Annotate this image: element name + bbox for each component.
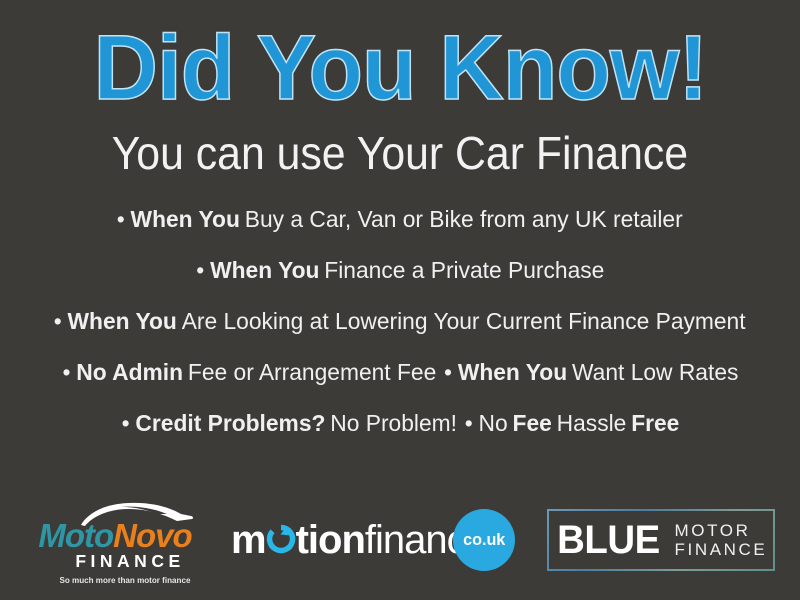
list-item-bold-tertiary: Free bbox=[631, 412, 679, 436]
list-item-bold: Credit Problems? bbox=[135, 412, 325, 436]
bullet-icon: • bbox=[62, 361, 70, 385]
logo-tagline: So much more than motor finance bbox=[59, 576, 190, 585]
bullet-icon: • bbox=[121, 412, 129, 436]
list-item-text: Fee or Arrangement Fee bbox=[187, 361, 435, 385]
logo-subtitle: FINANCE bbox=[75, 553, 184, 571]
page-title: Did You Know! bbox=[93, 22, 707, 114]
list-item-bold: When You bbox=[131, 208, 240, 232]
bullet-icon-secondary: • bbox=[444, 361, 452, 385]
list-item-bold: When You bbox=[210, 259, 319, 283]
bullet-icon: • bbox=[196, 259, 204, 283]
list-item: • No Admin Fee or Arrangement Fee • When… bbox=[62, 359, 738, 387]
list-item-text-pre: No bbox=[478, 412, 507, 436]
partner-logo-row: MotoNovo FINANCE So much more than motor… bbox=[0, 492, 800, 588]
logo-word-finance: FINANCE bbox=[675, 540, 768, 559]
logo-motionfinance: mtionfinance co.uk bbox=[231, 507, 521, 573]
list-item-text-mid: Hassle bbox=[556, 412, 626, 436]
logo-word-blue: BLUE bbox=[557, 520, 660, 560]
logo-blue-motor-finance: BLUE MOTOR FINANCE bbox=[547, 509, 775, 571]
list-item: • When You Are Looking at Lowering Your … bbox=[54, 308, 746, 336]
list-item-bold: When You bbox=[68, 310, 177, 334]
list-item-text: Buy a Car, Van or Bike from any UK retai… bbox=[245, 208, 683, 232]
advert-banner: Did You Know! You can use Your Car Finan… bbox=[0, 0, 800, 600]
list-item-text: No Problem! bbox=[330, 412, 457, 436]
list-item-bold: No Admin bbox=[76, 361, 183, 385]
list-item: • When You Buy a Car, Van or Bike from a… bbox=[117, 206, 683, 234]
list-item: • Credit Problems? No Problem! • No Fee … bbox=[121, 410, 679, 438]
list-item: • When You Finance a Private Purchase bbox=[196, 257, 604, 285]
logo-domain-text: co.uk bbox=[463, 530, 505, 550]
bullet-icon: • bbox=[117, 208, 125, 232]
car-swoosh-icon bbox=[77, 501, 195, 527]
list-item-text-secondary: Want Low Rates bbox=[572, 361, 738, 385]
logo-wordmark: mtionfinance bbox=[231, 520, 487, 560]
bullet-icon: • bbox=[54, 310, 62, 334]
list-item-bold-secondary: When You bbox=[457, 361, 566, 385]
logo-word-motor: MOTOR bbox=[675, 521, 768, 540]
bullet-icon-secondary: • bbox=[464, 412, 472, 436]
logo-word-tion: tion bbox=[296, 520, 365, 560]
logo-subtitle-stack: MOTOR FINANCE bbox=[675, 521, 768, 559]
benefits-list: • When You Buy a Car, Van or Bike from a… bbox=[0, 206, 800, 438]
list-item-text: Are Looking at Lowering Your Current Fin… bbox=[182, 310, 746, 334]
logo-motonovo-finance: MotoNovo FINANCE So much more than motor… bbox=[25, 499, 205, 581]
list-item-text: Finance a Private Purchase bbox=[324, 259, 604, 283]
logo-word-m: m bbox=[231, 520, 266, 560]
subtitle: You can use Your Car Finance bbox=[112, 126, 688, 180]
list-item-bold-secondary: Fee bbox=[512, 412, 551, 436]
logo-domain-badge: co.uk bbox=[453, 509, 515, 571]
circular-arrow-icon bbox=[266, 521, 296, 551]
